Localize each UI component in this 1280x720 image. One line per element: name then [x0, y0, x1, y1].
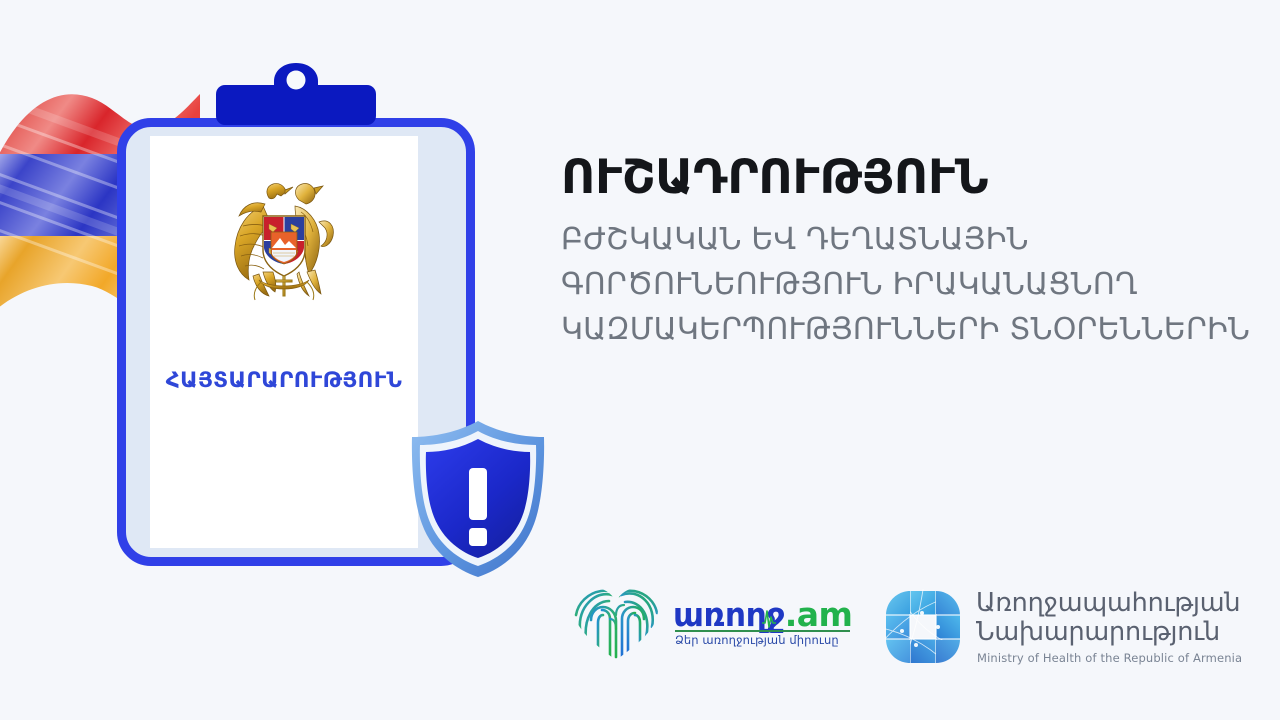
- ecg-pulse-icon: [761, 601, 777, 631]
- aroghj-word-tld: .am: [785, 595, 853, 634]
- clipboard-caption: ՀԱՅՏԱՐԱՐՈՒԹՅՈՒՆ: [150, 368, 418, 393]
- armenian-coat-of-arms: [219, 176, 349, 304]
- left-illustration: ՀԱՅՏԱՐԱՐՈՒԹՅՈՒՆ: [0, 0, 560, 720]
- ministry-name-line-2: Նախարարություն: [976, 617, 1220, 647]
- aroghj-divider: [675, 630, 850, 632]
- aroghj-tagline: Ձեր առողջության միրուսը: [675, 633, 855, 647]
- notice-subtitle-line-2: ԳՈՐԾՈՒՆԵՈՒԹՅՈՒՆ ԻՐԱԿԱՆԱՑՆՈՂ: [561, 262, 1261, 307]
- footer-logos: առողջ.am Ձեր առողջության միրուսը: [565, 583, 1230, 675]
- notice-subtitle: ԲԺՇԿԱԿԱՆ ԵՎ ԴԵՂԱՏՆԱՅԻՆ ԳՈՐԾՈՒՆԵՈՒԹՅՈՒՆ Ի…: [561, 217, 1261, 352]
- page-title: ՈՒՇԱԴՐՈՒԹՅՈՒՆ: [561, 153, 1261, 202]
- ministry-name-english: Ministry of Health of the Republic of Ar…: [977, 651, 1242, 665]
- clipboard-paper: ՀԱՅՏԱՐԱՐՈՒԹՅՈՒՆ: [150, 136, 418, 548]
- notice-subtitle-line-3: ԿԱԶՄԱԿԵՐՊՈՒԹՅՈՒՆՆԵՐԻ ՏՆՕՐԵՆՆԵՐԻՆ: [561, 307, 1261, 352]
- ministry-of-health-logo[interactable]: Առողջապահության Նախարարություն Ministry …: [880, 583, 1230, 675]
- warning-shield-icon: [402, 418, 554, 580]
- fingerprint-heart-icon: [570, 585, 662, 663]
- medical-cross-network-icon: [880, 587, 966, 667]
- announcement-banner: ՀԱՅՏԱՐԱՐՈՒԹՅՈՒՆ: [0, 0, 1280, 720]
- notice-subtitle-line-1: ԲԺՇԿԱԿԱՆ ԵՎ ԴԵՂԱՏՆԱՅԻՆ: [561, 217, 1261, 262]
- notice-text-block: ՈՒՇԱԴՐՈՒԹՅՈՒՆ ԲԺՇԿԱԿԱՆ ԵՎ ԴԵՂԱՏՆԱՅԻՆ ԳՈՐ…: [561, 153, 1261, 352]
- clipboard-clip: [216, 63, 376, 125]
- ministry-name-line-1: Առողջապահության: [976, 588, 1240, 618]
- aroghj-am-logo[interactable]: առողջ.am Ձեր առողջության միրուսը: [565, 583, 855, 675]
